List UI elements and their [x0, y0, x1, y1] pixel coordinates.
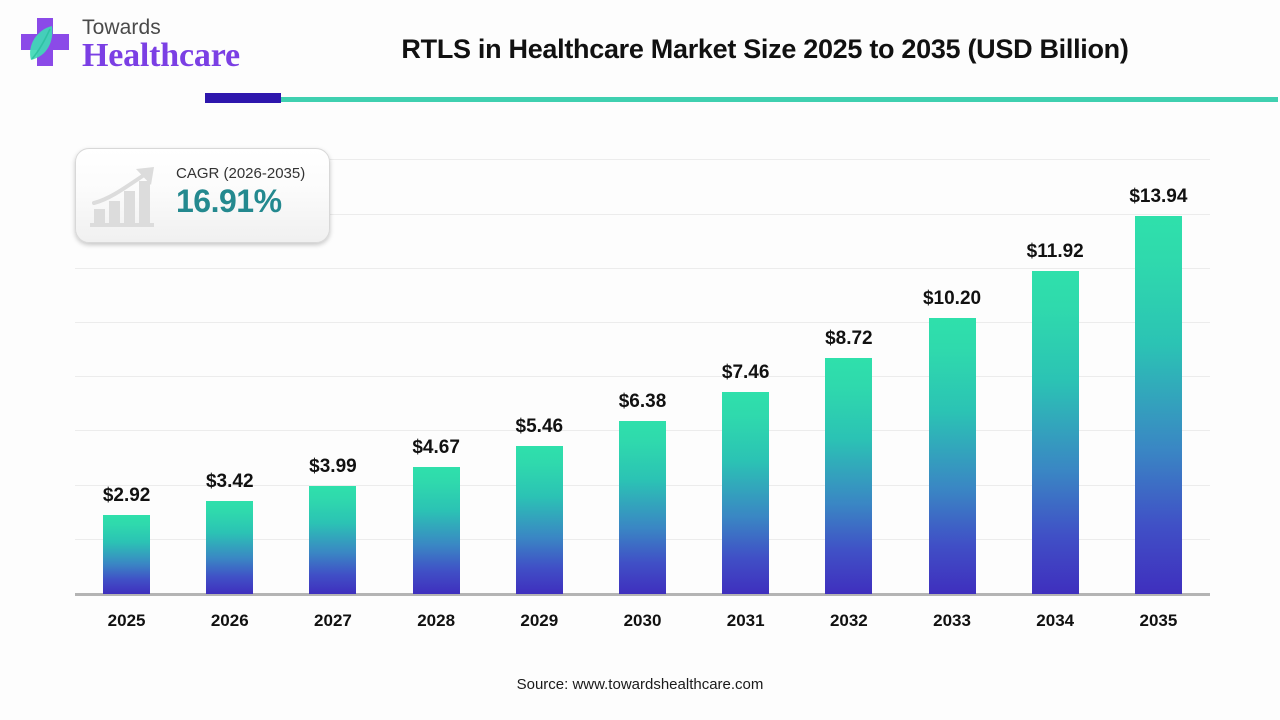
x-tick-2030: 2030: [591, 611, 694, 631]
bar-group: $7.46: [694, 150, 797, 594]
bar[interactable]: [825, 358, 872, 594]
cagr-period-label: CAGR (2026-2035): [176, 165, 305, 182]
cagr-callout: CAGR (2026-2035) 16.91%: [75, 148, 330, 243]
x-tick-2032: 2032: [797, 611, 900, 631]
source-note: Source: www.towardshealthcare.com: [0, 676, 1280, 693]
bar[interactable]: [516, 446, 563, 594]
bar-group: $5.46: [488, 150, 591, 594]
bar-group: $13.94: [1107, 150, 1210, 594]
bar-value-label: $3.42: [178, 471, 281, 493]
bar-value-label: $2.92: [75, 485, 178, 507]
x-tick-2029: 2029: [488, 611, 591, 631]
bar-value-label: $13.94: [1107, 186, 1210, 208]
bar-group: $4.67: [385, 150, 488, 594]
bar[interactable]: [103, 515, 150, 594]
bar-group: $11.92: [1004, 150, 1107, 594]
x-tick-2033: 2033: [900, 611, 1003, 631]
bar-value-label: $6.38: [591, 391, 694, 413]
bar[interactable]: [619, 421, 666, 594]
bar-group: $8.72: [797, 150, 900, 594]
bar[interactable]: [929, 318, 976, 594]
bar-value-label: $3.99: [281, 456, 384, 478]
bar[interactable]: [1135, 216, 1182, 594]
x-tick-2026: 2026: [178, 611, 281, 631]
bar-chart: $2.92$3.42$3.99$4.67$5.46$6.38$7.46$8.72…: [0, 0, 1280, 720]
bar-value-label: $8.72: [797, 328, 900, 350]
bar-group: $10.20: [900, 150, 1003, 594]
cagr-text-group: CAGR (2026-2035) 16.91%: [176, 165, 305, 220]
growth-chart-icon: [88, 163, 170, 229]
bar[interactable]: [1032, 271, 1079, 594]
x-tick-2031: 2031: [694, 611, 797, 631]
bar[interactable]: [413, 467, 460, 594]
x-tick-2027: 2027: [281, 611, 384, 631]
bar-value-label: $11.92: [1004, 241, 1107, 263]
bar[interactable]: [722, 392, 769, 594]
bar[interactable]: [309, 486, 356, 594]
bar-group: $6.38: [591, 150, 694, 594]
x-tick-2035: 2035: [1107, 611, 1210, 631]
cagr-value: 16.91%: [176, 183, 305, 220]
bar-value-label: $7.46: [694, 362, 797, 384]
x-tick-2028: 2028: [385, 611, 488, 631]
x-tick-2034: 2034: [1004, 611, 1107, 631]
bar-value-label: $10.20: [900, 288, 1003, 310]
bar-value-label: $4.67: [385, 437, 488, 459]
x-tick-2025: 2025: [75, 611, 178, 631]
bar-value-label: $5.46: [488, 416, 591, 438]
bar[interactable]: [206, 501, 253, 594]
